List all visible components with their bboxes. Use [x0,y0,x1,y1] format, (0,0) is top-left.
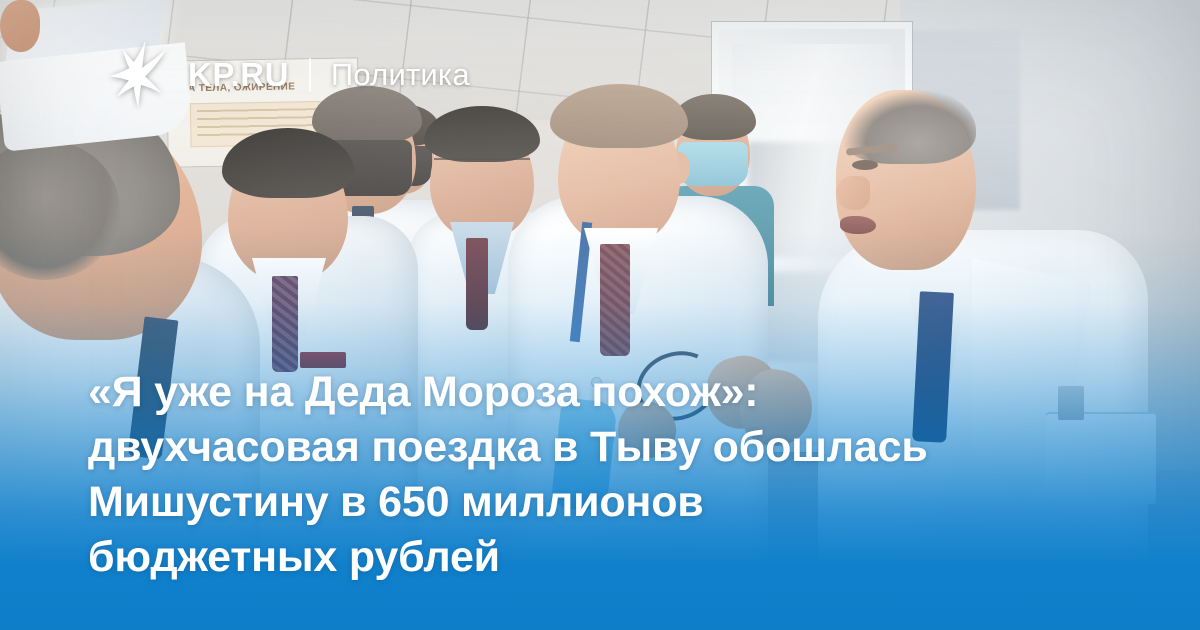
necktie [272,276,298,372]
section-label[interactable]: Политика [331,57,470,93]
headline-line-3: Мишустину в 650 миллионов [88,475,1098,530]
card-header: KP.RU Политика [100,38,470,112]
headline-line-4: бюджетных рублей [88,530,1098,585]
necktie [466,238,488,330]
kp-share-card: ЕСА ТЕЛА, ОЖИРЕНИЕ [0,0,1200,630]
headline: «Я уже на Деда Мороза похож»: двухчасова… [88,365,1098,585]
kp-swallow-bird-icon[interactable] [100,38,174,112]
glasses-icon [434,158,530,176]
headline-line-1: «Я уже на Деда Мороза похож»: [88,365,1098,420]
header-divider [309,58,311,92]
nose [836,176,870,210]
brand-name[interactable]: KP.RU [188,56,289,94]
headline-line-2: двухчасовая поездка в Тыву обошлась [88,420,1098,475]
necktie [600,244,630,356]
ear [0,0,40,52]
mouth [840,216,876,234]
eye [852,160,878,170]
